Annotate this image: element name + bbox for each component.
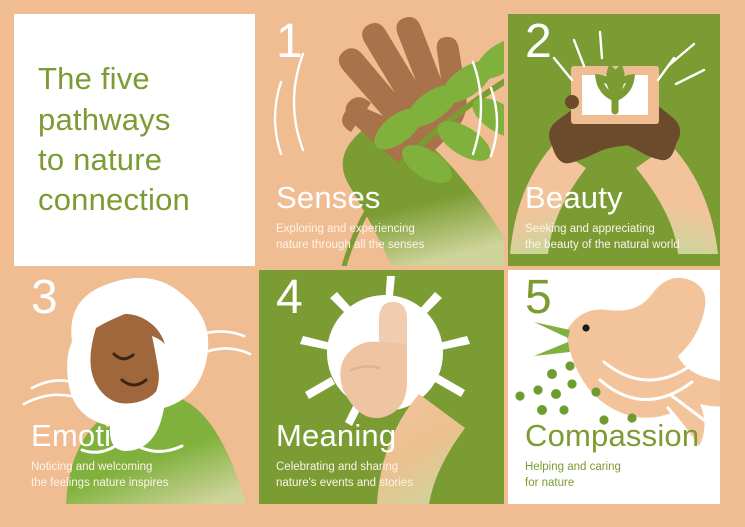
pathway-card-emotion[interactable]: 3 Emotion Noticing and welcoming the fee… xyxy=(14,270,255,504)
title-card: The five pathways to nature connection xyxy=(14,14,255,266)
pathway-title: Senses xyxy=(276,182,494,215)
pathway-title: Beauty xyxy=(525,182,710,215)
pathway-caption: Senses Exploring and experiencing nature… xyxy=(276,182,494,254)
pathway-title: Compassion xyxy=(525,420,710,453)
pathway-description: Exploring and experiencing nature throug… xyxy=(276,221,494,254)
pathway-description: Seeking and appreciating the beauty of t… xyxy=(525,221,710,254)
pathway-title: Meaning xyxy=(276,420,494,453)
pathway-caption: Beauty Seeking and appreciating the beau… xyxy=(525,182,710,254)
pathway-card-senses[interactable]: 1 Senses Exploring and experiencing natu… xyxy=(259,14,504,266)
pathways-grid: The five pathways to nature connection xyxy=(14,14,712,500)
pathway-number: 5 xyxy=(525,274,553,322)
pathway-card-beauty[interactable]: 2 Beauty Seeking and appreciating the be… xyxy=(508,14,720,266)
pathway-caption: Compassion Helping and caring for nature xyxy=(525,420,710,492)
pathway-description: Celebrating and sharing nature's events … xyxy=(276,459,494,492)
pathway-number: 2 xyxy=(525,18,553,66)
pathway-title: Emotion xyxy=(31,420,245,453)
page-title: The five pathways to nature connection xyxy=(14,59,214,220)
pathway-card-meaning[interactable]: 4 Meaning Celebrating and sharing nature… xyxy=(259,270,504,504)
pathway-number: 1 xyxy=(276,18,304,66)
pathway-card-compassion[interactable]: 5 Compassion Helping and caring for natu… xyxy=(508,270,720,504)
pathway-number: 3 xyxy=(31,274,59,322)
pathway-caption: Meaning Celebrating and sharing nature's… xyxy=(276,420,494,492)
pathway-caption: Emotion Noticing and welcoming the feeli… xyxy=(31,420,245,492)
pathway-description: Helping and caring for nature xyxy=(525,459,710,492)
pathway-description: Noticing and welcoming the feelings natu… xyxy=(31,459,245,492)
pathway-number: 4 xyxy=(276,274,304,322)
